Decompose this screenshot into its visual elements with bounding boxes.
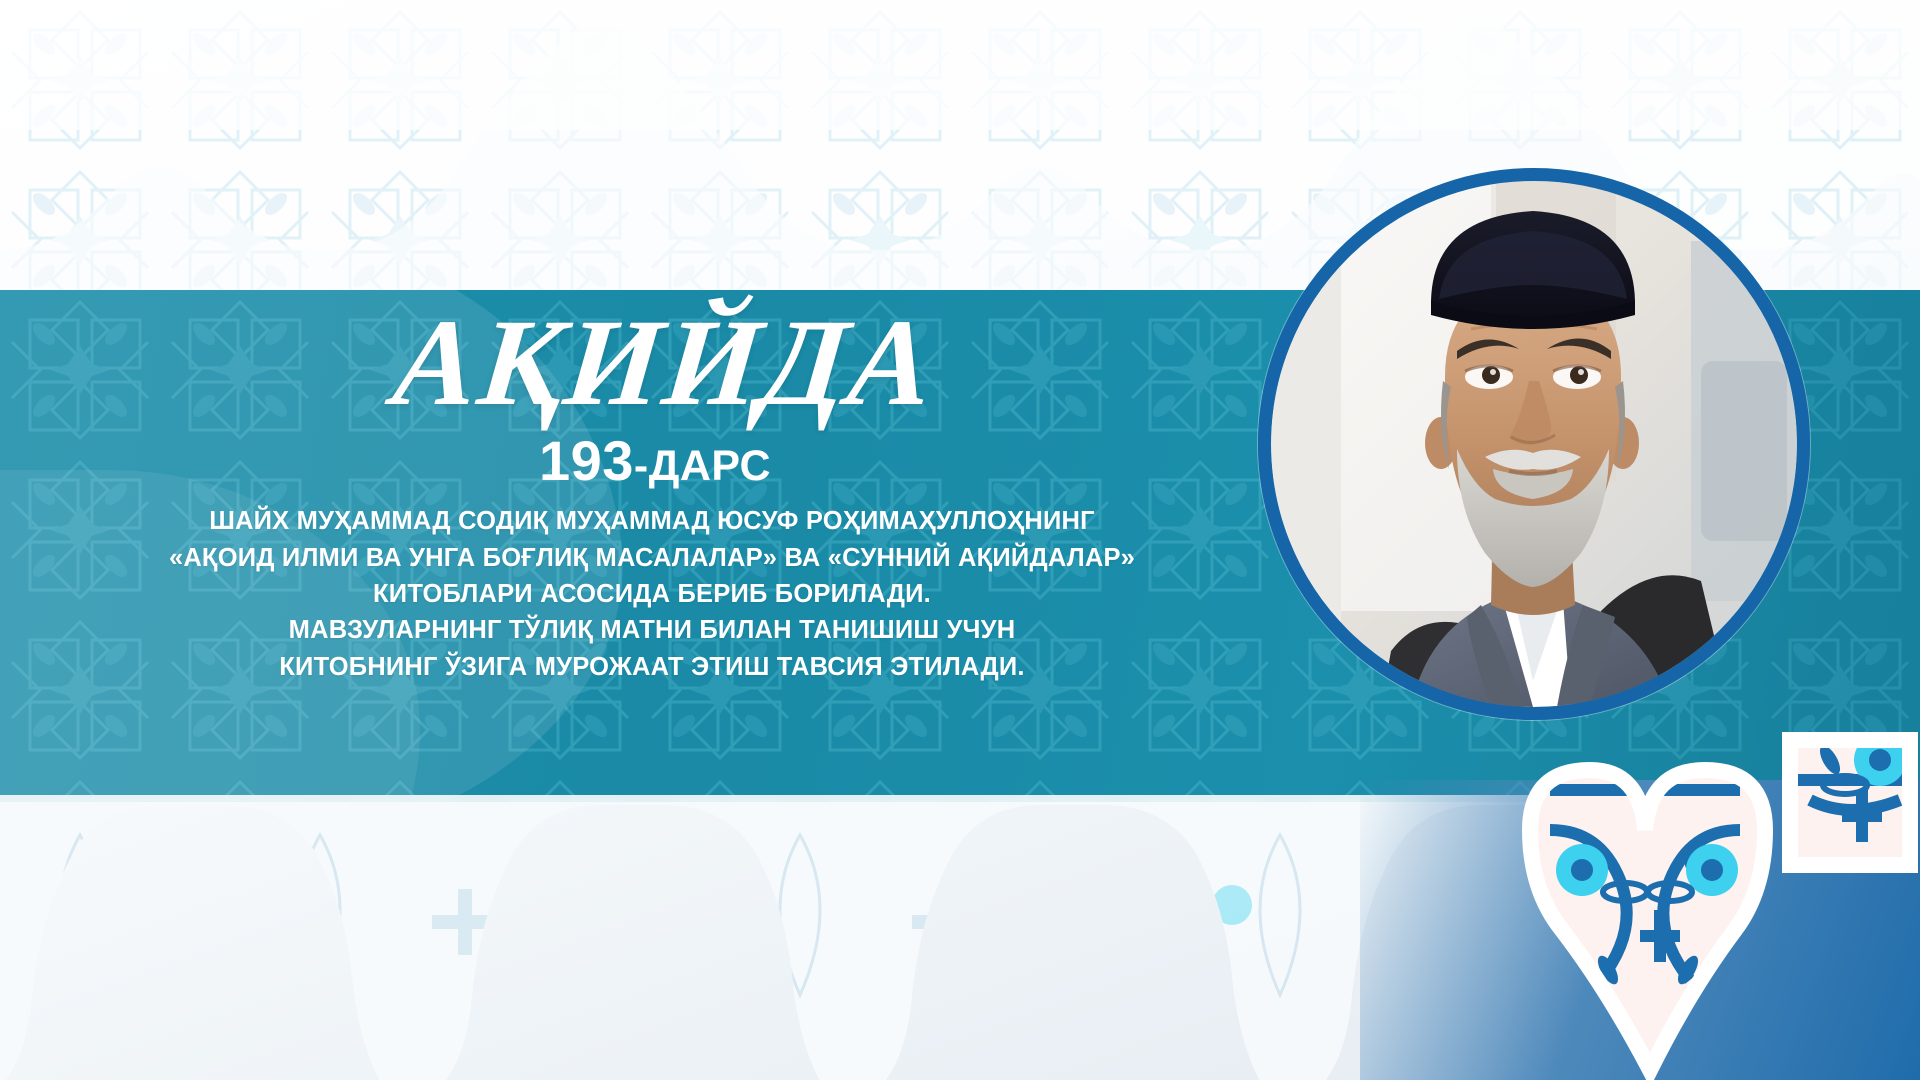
lesson-separator: - — [634, 442, 649, 490]
description-line-4: МАВЗУЛАРНИНГ ТЎЛИҚ МАТНИ БИЛАН ТАНИШИШ У… — [289, 616, 1016, 645]
lesson-number-label: 193-ДАРС — [519, 428, 771, 493]
bottom-right-medallion-ornament — [1490, 680, 1920, 1080]
poster-canvas: АҚИЙДА 193-ДАРС ШАЙХ МУҲАММАД СОДИҚ МУҲА… — [0, 0, 1920, 1080]
poster-text-block: АҚИЙДА 193-ДАРС ШАЙХ МУҲАММАД СОДИҚ МУҲА… — [0, 290, 1290, 802]
description-line-3: КИТОБЛАРИ АСОСИДА БЕРИБ БОРИЛАДИ. — [373, 580, 931, 609]
description-line-1: ШАЙХ МУҲАММАД СОДИҚ МУҲАММАД ЮСУФ РОҲИМА… — [209, 507, 1095, 536]
description-line-2: «АҚОИД ИЛМИ ВА УНГА БОҒЛИҚ МАСАЛАЛАР» ВА… — [169, 544, 1135, 573]
portrait-avatar — [1258, 168, 1810, 720]
description-line-5: КИТОБНИНГ ЎЗИГА МУРОЖААТ ЭТИШ ТАВСИЯ ЭТИ… — [279, 653, 1024, 682]
portrait-ring-border — [1258, 168, 1810, 720]
lesson-number: 193 — [539, 429, 634, 492]
page-title: АҚИЙДА — [349, 300, 941, 426]
lesson-suffix: ДАРС — [649, 442, 771, 490]
description-block: ШАЙХ МУҲАММАД СОДИҚ МУҲАММАД ЮСУФ РОҲИМА… — [155, 507, 1135, 682]
